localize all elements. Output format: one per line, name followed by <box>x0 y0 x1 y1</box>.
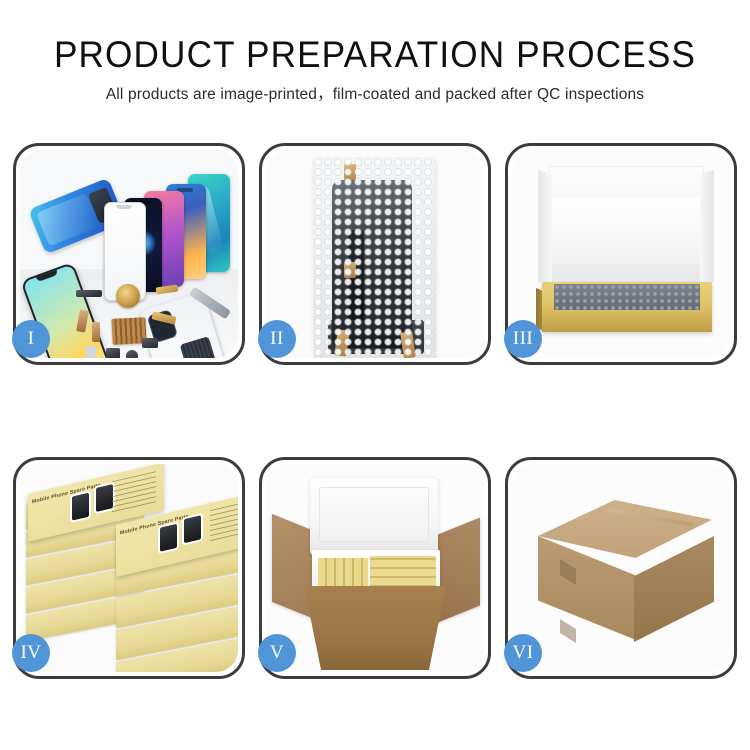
box-tray-front-icon <box>542 310 712 332</box>
stacked-retail-boxes-scene: Mobile Phone Spare Parts Mobile Phone Sp… <box>20 464 238 672</box>
page-title: PRODUCT PREPARATION PROCESS <box>19 34 732 76</box>
open-kraft-box-scene <box>512 150 730 358</box>
step-badge-2: II <box>258 320 296 358</box>
process-step-panel-1: I <box>13 143 245 365</box>
bubble-wrap-bag-icon <box>314 158 436 358</box>
box-artwork-swatch <box>72 493 89 521</box>
box-spec-lines <box>210 500 238 544</box>
panel-image-4: Mobile Phone Spare Parts Mobile Phone Sp… <box>20 464 238 672</box>
step-badge-4: IV <box>12 634 50 672</box>
box-artwork-swatch <box>160 524 177 552</box>
phone-parts-scene <box>20 150 238 358</box>
step-badge-6: VI <box>504 634 542 672</box>
small-part-icon <box>126 350 138 358</box>
small-part-icon <box>92 322 100 342</box>
carton-with-styrofoam-scene <box>266 464 484 672</box>
process-step-panel-3: III <box>505 143 737 365</box>
carton-body-icon <box>304 586 446 670</box>
bubble-wrapped-screen-scene <box>266 150 484 358</box>
small-part-icon <box>106 348 120 358</box>
small-part-icon <box>76 290 102 297</box>
step-badge-5: V <box>258 634 296 672</box>
box-artwork-swatch <box>184 515 201 543</box>
bubble-texture <box>314 158 436 358</box>
process-steps-grid: I II <box>13 143 737 679</box>
panel-image-3 <box>512 150 730 358</box>
panel-image-1 <box>20 150 238 358</box>
header: PRODUCT PREPARATION PROCESS All products… <box>0 34 750 104</box>
foam-lining-icon <box>552 198 700 264</box>
step-badge-1: I <box>12 320 50 358</box>
box-artwork-swatch <box>96 484 113 512</box>
small-part-icon <box>86 346 96 358</box>
step-badge-3: III <box>504 320 542 358</box>
speaker-coil-part-icon <box>116 284 140 308</box>
panel-image-6 <box>512 464 730 672</box>
page-subtitle: All products are image-printed，film-coat… <box>0 85 750 104</box>
process-step-panel-6: VI <box>505 457 737 679</box>
process-step-panel-2: II <box>259 143 491 365</box>
box-spec-lines <box>112 471 156 515</box>
sealed-carton-scene <box>512 464 730 672</box>
product-preparation-process-infographic: PRODUCT PREPARATION PROCESS All products… <box>0 0 750 750</box>
panel-image-5 <box>266 464 484 672</box>
small-part-icon <box>142 338 158 348</box>
process-step-panel-5: V <box>259 457 491 679</box>
styrofoam-lid-icon <box>310 478 438 556</box>
process-step-panel-4: Mobile Phone Spare Parts Mobile Phone Sp… <box>13 457 245 679</box>
panel-image-2 <box>266 150 484 358</box>
